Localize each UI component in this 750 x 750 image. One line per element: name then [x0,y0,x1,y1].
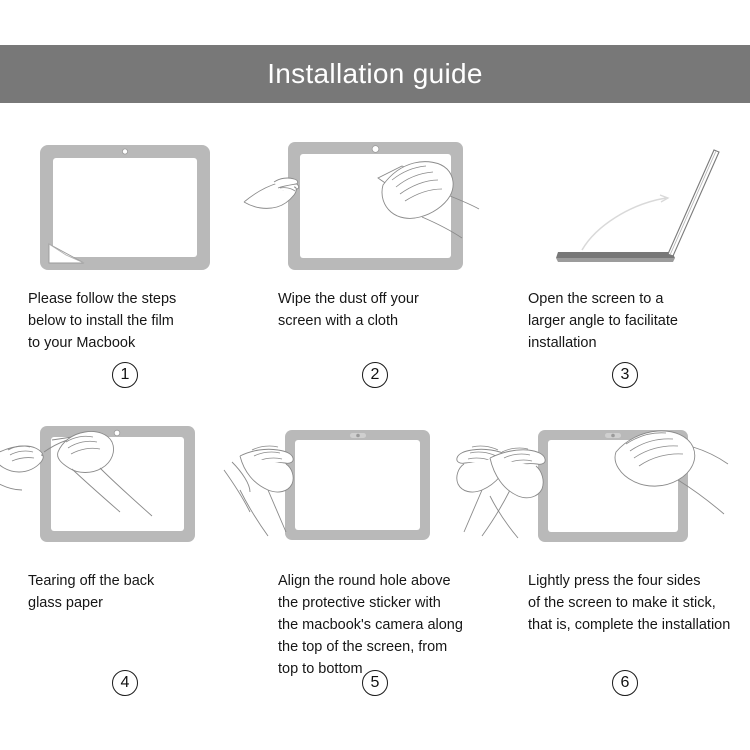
step-6-caption: Lightly press the four sides of the scre… [500,570,750,636]
step-5-badge-row: 5 [250,670,500,696]
header-bar: Installation guide [0,45,750,103]
step-number-badge: 1 [112,362,138,388]
caption-line: below to install the film [28,310,236,332]
step-2-badge-row: 2 [250,362,500,388]
step-3-caption: Open the screen to a larger angle to fac… [500,288,750,354]
step-2-illustration [250,130,500,270]
step-card-2: Wipe the dust off your screen with a clo… [250,130,500,412]
hand-peeling-back-paper-icon [0,412,250,562]
caption-line: the protective sticker with [278,592,486,614]
step-2-caption: Wipe the dust off your screen with a clo… [250,288,500,332]
caption-line: Wipe the dust off your [278,288,486,310]
step-3-badge-row: 3 [500,362,750,388]
tablet-with-peeling-film-icon [0,130,250,270]
step-number-badge: 5 [362,670,388,696]
step-3-illustration [500,130,750,270]
step-1-badge-row: 1 [0,362,250,388]
caption-line: Open the screen to a [528,288,736,310]
caption-line: Lightly press the four sides [528,570,736,592]
two-hands-aligning-film-icon [250,412,500,562]
step-number-badge: 3 [612,362,638,388]
step-card-4: Tearing off the back glass paper 4 [0,412,250,694]
step-5-illustration [250,412,500,552]
steps-grid: Please follow the steps below to install… [0,130,750,694]
step-card-5: Align the round hole above the protectiv… [250,412,500,694]
hands-pressing-film-edges-icon [500,412,750,562]
caption-line: that is, complete the installation [528,614,736,636]
step-6-badge-row: 6 [500,670,750,696]
caption-line: screen with a cloth [278,310,486,332]
caption-line: installation [528,332,736,354]
step-number-badge: 6 [612,670,638,696]
page-title: Installation guide [267,60,483,88]
caption-line: larger angle to facilitate [528,310,736,332]
step-4-illustration [0,412,250,552]
caption-line: Please follow the steps [28,288,236,310]
step-number-badge: 2 [362,362,388,388]
step-card-3: Open the screen to a larger angle to fac… [500,130,750,412]
laptop-open-angle-icon [500,130,750,270]
caption-line: Tearing off the back [28,570,236,592]
step-1-illustration [0,130,250,270]
caption-line: to your Macbook [28,332,236,354]
caption-line: Align the round hole above [278,570,486,592]
step-card-6: Lightly press the four sides of the scre… [500,412,750,694]
caption-line: the macbook's camera along [278,614,486,636]
step-5-caption: Align the round hole above the protectiv… [250,570,500,680]
step-4-caption: Tearing off the back glass paper [0,570,250,614]
step-number-badge: 4 [112,670,138,696]
step-4-badge-row: 4 [0,670,250,696]
caption-line: of the screen to make it stick, [528,592,736,614]
step-1-caption: Please follow the steps below to install… [0,288,250,354]
step-card-1: Please follow the steps below to install… [0,130,250,412]
step-6-illustration [500,412,750,552]
caption-line: the top of the screen, from [278,636,486,658]
caption-line: glass paper [28,592,236,614]
hand-wiping-screen-with-cloth-icon [250,130,500,270]
installation-guide-page: Installation guide Please follow the ste… [0,0,750,750]
